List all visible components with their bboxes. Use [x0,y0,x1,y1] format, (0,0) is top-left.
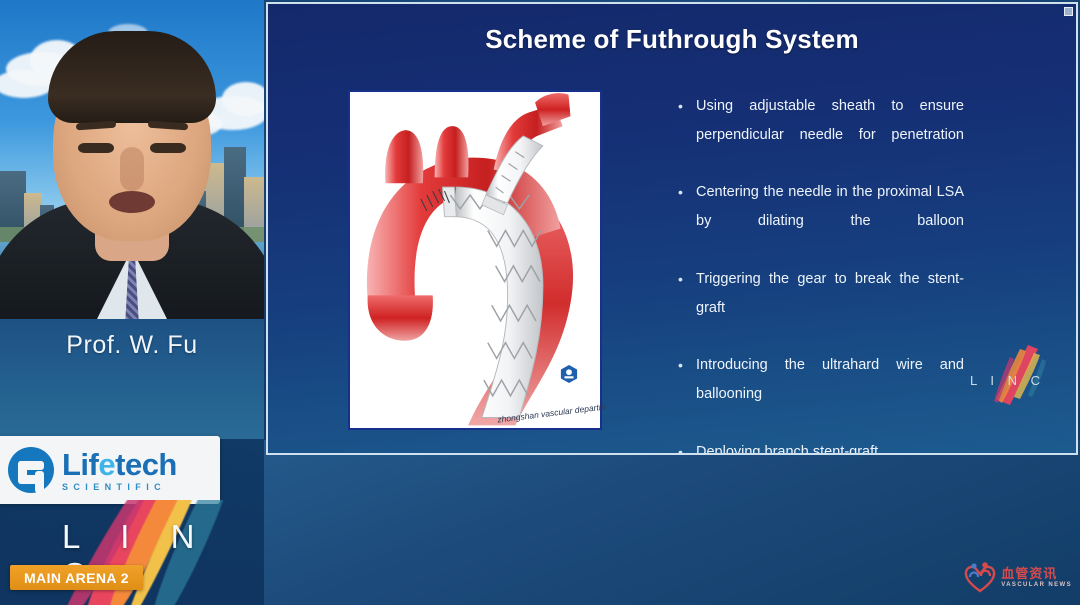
speaker-name-plate: Prof. W. Fu [0,319,264,439]
bullet-text-3: Triggering the gear to break the stent-g… [696,265,964,351]
bullet-text-5: Deploying branch stent-graft [696,444,878,455]
presentation-slide: Scheme of Futhrough System [266,2,1078,455]
vascular-news-wordmark: 血管资讯 VASCULAR NEWS [1001,567,1072,588]
bullet-item-3: Triggering the gear to break the stent-g… [674,265,964,351]
presentation-stage: Prof. W. Fu Lifetech SCIENTIFIC L I N C … [0,0,1080,605]
lifetech-swirl-icon [8,447,54,493]
main-arena-badge: MAIN ARENA 2 [10,565,143,590]
bullet-text-4: Introducing the ultrahard wire and ballo… [696,351,964,437]
speaker-video-feed[interactable] [0,0,264,319]
bullet-item-4: Introducing the ultrahard wire and ballo… [674,351,964,437]
lifetech-wordmark: Lifetech SCIENTIFIC [62,449,177,492]
speaker-portrait [0,0,264,319]
slide-bullet-list: Using adjustable sheath to ensure perpen… [674,92,964,455]
slide-scroll-nub[interactable] [1064,7,1073,16]
bullet-text-2: Centering the needle in the proximal LSA… [696,178,964,264]
linc-slide-watermark: L I N C [966,339,1058,411]
aortic-arch-stent-graft-diagram: zhongshan vascular departm [348,90,602,430]
slide-title: Scheme of Futhrough System [268,24,1076,55]
bullet-item-2: Centering the needle in the proximal LSA… [674,178,964,264]
linc-watermark-text: L I N C [970,373,1045,388]
lifetech-logo: Lifetech SCIENTIFIC [0,436,220,504]
bullet-item-5: Deploying branch stent-graft [674,438,964,455]
lifetech-name-accent: e [98,447,115,482]
bullet-text-1: Using adjustable sheath to ensure perpen… [696,92,964,178]
bullet-item-1: Using adjustable sheath to ensure perpen… [674,92,964,178]
lifetech-name-suffix: tech [115,447,177,482]
watermark-chinese-text: 血管资讯 [1001,567,1072,580]
zhongshan-hospital-icon [560,364,578,384]
lifetech-name-prefix: Lif [62,447,98,482]
speaker-name: Prof. W. Fu [66,331,198,360]
backdrop [264,440,1080,605]
watermark-english-text: VASCULAR NEWS [1001,582,1072,588]
lifetech-subtitle: SCIENTIFIC [62,483,177,492]
vascular-news-watermark: 血管资讯 VASCULAR NEWS [963,555,1072,599]
heart-people-icon [963,560,997,594]
